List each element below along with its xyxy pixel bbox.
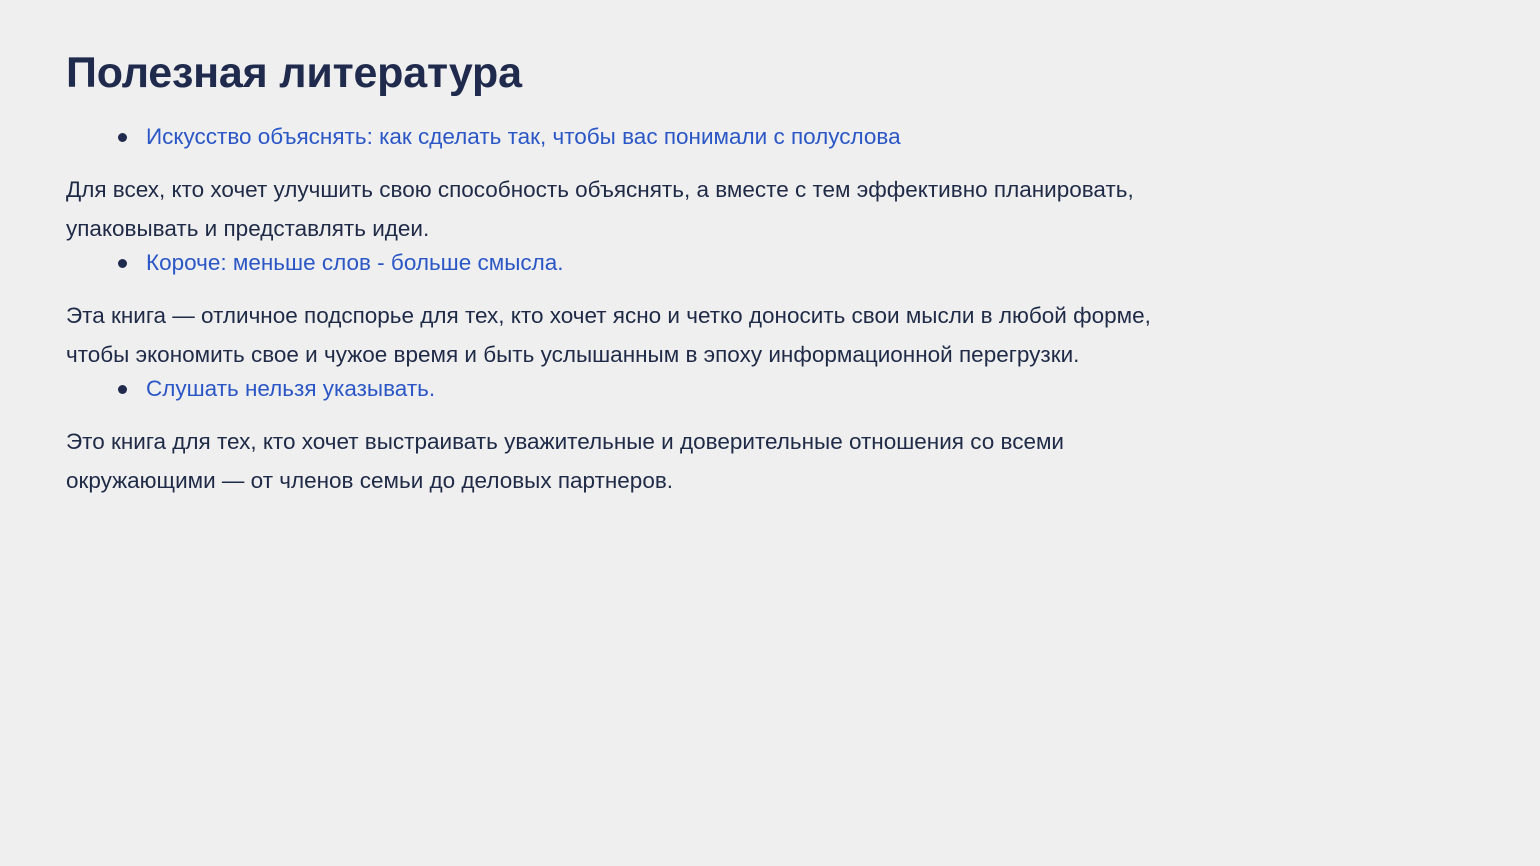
book-link[interactable]: Слушать нельзя указывать. [146,376,435,401]
book-link[interactable]: Искусство объяснять: как сделать так, чт… [146,124,901,149]
list-item: Короче: меньше слов - больше смысла. [66,248,1216,278]
book-list: Искусство объяснять: как сделать так, чт… [66,122,1216,152]
page-root: Полезная литература Искусство объяснять:… [0,0,1540,866]
book-entry: Слушать нельзя указывать. Это книга для … [66,374,1216,500]
page-title: Полезная литература [66,46,1216,100]
book-description: Это книга для тех, кто хочет выстраивать… [66,422,1216,500]
book-description: Эта книга — отличное подспорье для тех, … [66,296,1216,374]
list-item: Слушать нельзя указывать. [66,374,1216,404]
list-item: Искусство объяснять: как сделать так, чт… [66,122,1216,152]
bullet-icon [118,259,127,268]
book-description: Для всех, кто хочет улучшить свою способ… [66,170,1216,248]
article-content: Полезная литература Искусство объяснять:… [66,46,1216,500]
book-link[interactable]: Короче: меньше слов - больше смысла. [146,250,564,275]
book-entry: Короче: меньше слов - больше смысла. Эта… [66,248,1216,374]
book-list: Короче: меньше слов - больше смысла. [66,248,1216,278]
book-entry: Искусство объяснять: как сделать так, чт… [66,122,1216,248]
book-list: Слушать нельзя указывать. [66,374,1216,404]
bullet-icon [118,385,127,394]
bullet-icon [118,133,127,142]
